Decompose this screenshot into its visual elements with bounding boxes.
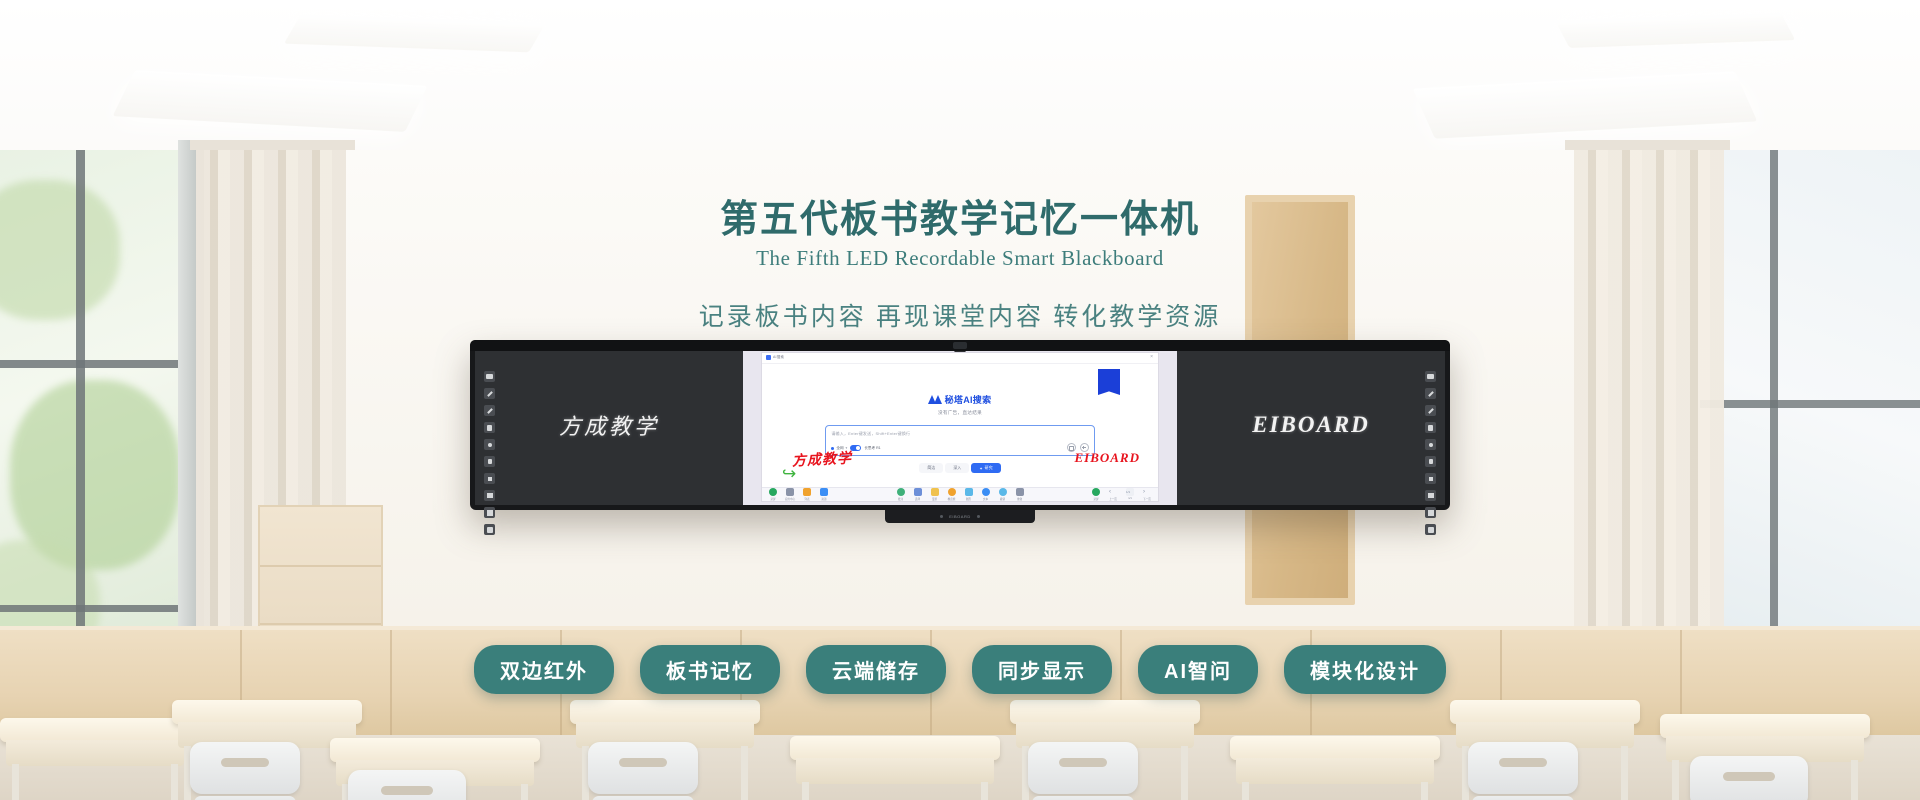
hero-headline-block: 第五代板书教学记忆一体机 The Fifth LED Recordable Sm…: [0, 200, 1920, 333]
feature-badge-row: 双边红外 板书记忆 云端储存 同步显示 AI智问 模块化设计: [0, 645, 1920, 694]
chalk-text-left: 方成教学: [559, 409, 659, 441]
pen-icon[interactable]: [484, 388, 495, 399]
screen-icon[interactable]: [1425, 371, 1436, 382]
stand-indicator-icon: [940, 515, 943, 518]
text-icon[interactable]: 文本: [980, 488, 992, 501]
settings-icon[interactable]: [484, 524, 495, 535]
stand-indicator-icon: [977, 515, 980, 518]
page-icon[interactable]: 1/1 1/1: [1124, 488, 1136, 500]
page-tagline: 记录板书内容 再现课堂内容 转化教学资源: [0, 297, 1920, 333]
camera-icon: [953, 342, 967, 349]
capture-icon[interactable]: [1425, 507, 1436, 518]
chalk-panel-left[interactable]: 方成教学: [475, 345, 743, 505]
brand-row: 秘塔AI搜索: [762, 393, 1158, 406]
sparkle-icon: ✦: [979, 466, 982, 471]
badge-dual-infrared[interactable]: 双边红外: [474, 645, 614, 694]
blackboard-frame: 方成教学 AI搜索 ×: [470, 340, 1450, 510]
eraser-icon[interactable]: [484, 439, 495, 450]
badge-modular-design[interactable]: 模块化设计: [1284, 645, 1446, 694]
mode-button-simple[interactable]: 简洁: [919, 463, 943, 473]
browser-window[interactable]: AI搜索 × 秘塔AI搜索 没有广告，直达结果 请输入，Enter键发送，Shi…: [761, 352, 1159, 502]
lamp-icon[interactable]: [1425, 456, 1436, 467]
blackboard-top-bar: [470, 340, 1450, 351]
next-icon[interactable]: › 下一页: [1141, 488, 1153, 501]
list-icon[interactable]: 列表: [801, 488, 813, 501]
stand-label: EIBOARD: [949, 514, 971, 519]
search-input[interactable]: 请输入，Enter键发送，Shift+Enter键换行 全网 ▾ 长思考 R1: [825, 425, 1094, 456]
browser-tab[interactable]: AI搜索: [766, 355, 784, 360]
side-rail-left[interactable]: [484, 371, 495, 535]
page-subtitle: The Fifth LED Recordable Smart Blackboar…: [0, 246, 1920, 271]
badge-ai-qa[interactable]: AI智问: [1138, 645, 1258, 694]
shape-icon[interactable]: 图形: [963, 488, 975, 501]
classroom-hero-scene: 第五代板书教学记忆一体机 The Fifth LED Recordable Sm…: [0, 0, 1920, 800]
badge-writing-memory[interactable]: 板书记忆: [640, 645, 780, 694]
center-display-screen[interactable]: AI搜索 × 秘塔AI搜索 没有广告，直达结果 请输入，Enter键发送，Shi…: [743, 345, 1177, 505]
square-icon[interactable]: [1425, 473, 1436, 484]
browser-titlebar: AI搜索 ×: [762, 353, 1158, 364]
green-ink-annotation: ↩: [782, 464, 796, 484]
cursor-icon[interactable]: 选择: [912, 488, 924, 501]
capture-icon[interactable]: [484, 507, 495, 518]
curtain-rod-right: [1565, 140, 1730, 150]
curtain-rod-left: [190, 140, 355, 150]
badge-cloud-storage[interactable]: 云端储存: [806, 645, 946, 694]
split-screen-icon[interactable]: [1425, 490, 1436, 501]
badge-sync-display[interactable]: 同步显示: [972, 645, 1112, 694]
brand-tagline: 没有广告，直达结果: [762, 410, 1158, 416]
favicon-icon: [766, 355, 771, 360]
red-ink-annotation-cn: 方成教学: [792, 447, 853, 470]
deep-think-toggle[interactable]: [850, 445, 861, 451]
blackboard-stand: EIBOARD: [885, 510, 1035, 523]
eraser-icon[interactable]: 橡皮擦: [946, 488, 958, 501]
smart-blackboard[interactable]: 方成教学 AI搜索 ×: [470, 340, 1450, 510]
settings-icon[interactable]: [1425, 524, 1436, 535]
toolbar-group-right: 录屏 ‹ 上一页 1/1 1/1 › 下一页: [1090, 488, 1153, 501]
search-placeholder: 请输入，Enter键发送，Shift+Enter键换行: [831, 431, 910, 437]
square-icon[interactable]: [484, 473, 495, 484]
undo-icon[interactable]: 撤销: [997, 488, 1009, 501]
close-icon[interactable]: ×: [1150, 355, 1153, 360]
side-rail-right[interactable]: [1425, 371, 1436, 535]
apps-icon[interactable]: 应用中心: [784, 488, 796, 501]
note-icon[interactable]: [1425, 422, 1436, 433]
red-ink-annotation-en: EIBOARD: [1074, 450, 1140, 466]
eraser-icon[interactable]: [1425, 439, 1436, 450]
screen-toolbar[interactable]: 录屏 应用中心 列表 资源: [762, 487, 1158, 501]
highlighter-icon[interactable]: [1425, 405, 1436, 416]
redo-icon[interactable]: 重做: [1014, 488, 1026, 501]
pen-icon[interactable]: [1425, 388, 1436, 399]
metaso-logo-icon: [929, 395, 941, 404]
blackboard-inner: 方成教学 AI搜索 ×: [475, 345, 1445, 505]
resource-icon[interactable]: 资源: [818, 488, 830, 501]
record-icon[interactable]: 录屏: [1090, 488, 1102, 501]
screen-icon[interactable]: [484, 371, 495, 382]
mode-button-deep[interactable]: 深入: [945, 463, 969, 473]
chalk-text-right: EIBOARD: [1252, 412, 1370, 438]
split-screen-icon[interactable]: [484, 490, 495, 501]
pen-icon[interactable]: 批注: [895, 488, 907, 501]
blue-bookmark-flag-icon: [1098, 369, 1120, 395]
brand-name: 秘塔AI搜索: [945, 393, 992, 406]
page-title: 第五代板书教学记忆一体机: [0, 200, 1920, 242]
highlighter-icon[interactable]: [484, 405, 495, 416]
hand-icon[interactable]: 漫游: [929, 488, 941, 501]
note-icon[interactable]: [484, 422, 495, 433]
prev-icon[interactable]: ‹ 上一页: [1107, 488, 1119, 501]
browser-tab-title: AI搜索: [773, 355, 784, 360]
lamp-icon[interactable]: [484, 456, 495, 467]
record-icon[interactable]: 录屏: [767, 488, 779, 501]
chalk-panel-right[interactable]: EIBOARD: [1177, 345, 1445, 505]
toolbar-group-left: 录屏 应用中心 列表 资源: [767, 488, 830, 501]
toolbar-group-center: 批注 选择 漫游 橡皮擦: [895, 488, 1026, 501]
deep-think-label: 长思考 R1: [864, 446, 880, 451]
mode-button-research[interactable]: ✦ 研究: [971, 463, 1000, 473]
